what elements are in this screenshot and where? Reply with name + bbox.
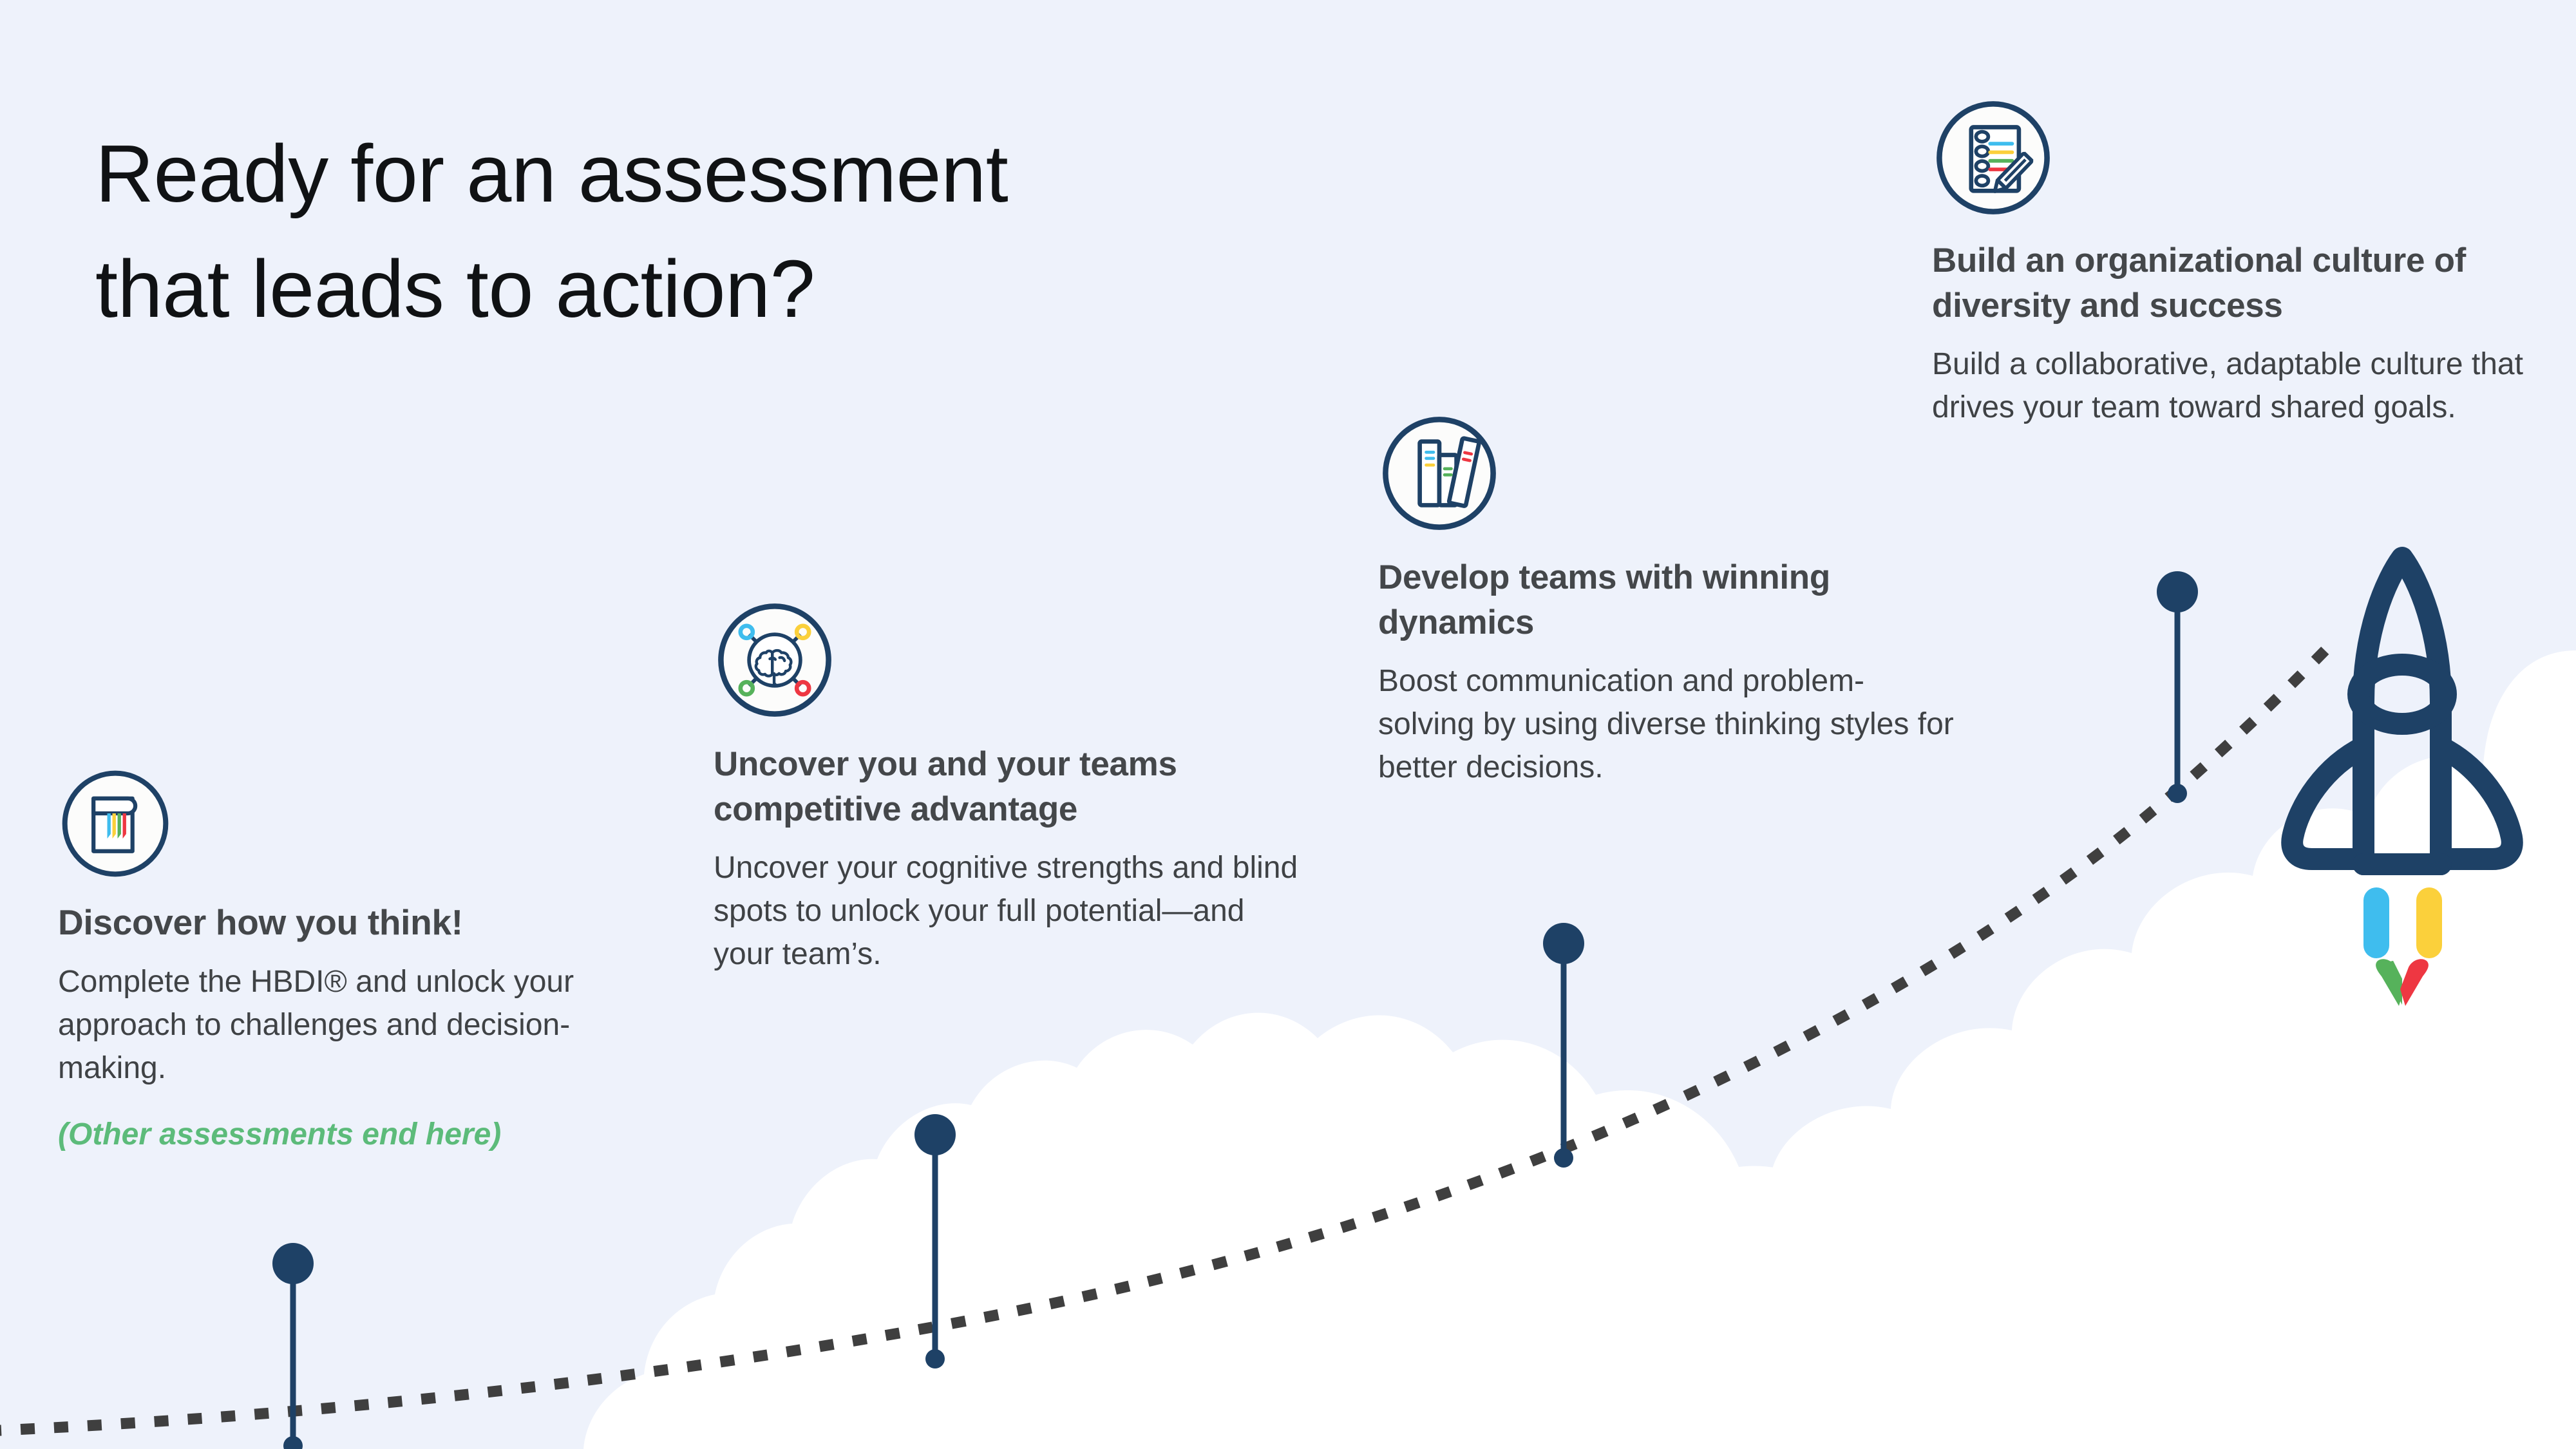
milestone-card-uncover: Uncover you and your teams competitive a… xyxy=(714,599,1312,976)
milestone-description: Complete the HBDI® and unlock your appro… xyxy=(58,960,625,1090)
milestone-pin-3 xyxy=(1543,923,1584,1168)
infographic-canvas: Ready for an assessment that leads to ac… xyxy=(0,0,2576,1449)
milestone-pin-1 xyxy=(272,1243,314,1449)
milestone-title: Develop teams with winning dynamics xyxy=(1378,555,1958,645)
milestone-description: Boost communication and problem-solving … xyxy=(1378,659,1958,790)
milestone-title: Uncover you and your teams competitive a… xyxy=(714,742,1312,832)
notebook-pen-icon xyxy=(1932,97,2054,219)
rocket-icon xyxy=(2267,535,2537,1011)
milestone-pin-2 xyxy=(914,1114,956,1368)
page-title: Ready for an assessment that leads to ac… xyxy=(95,117,1383,347)
milestone-title: Discover how you think! xyxy=(58,899,625,946)
milestone-description: Uncover your cognitive strengths and bli… xyxy=(714,846,1312,976)
milestone-card-discover: Discover how you think! Complete the HBD… xyxy=(58,766,625,1156)
books-icon xyxy=(1378,412,1501,535)
milestone-note: (Other assessments end here) xyxy=(58,1113,625,1156)
brain-network-icon xyxy=(714,599,836,721)
book-icon xyxy=(58,766,173,881)
page-title-line-1: Ready for an assessment xyxy=(95,117,1383,232)
milestone-card-build: Build an organizational culture of diver… xyxy=(1932,97,2563,429)
page-title-line-2: that leads to action? xyxy=(95,232,1383,347)
milestone-pin-4 xyxy=(2157,571,2198,803)
milestone-description: Build a collaborative, adaptable culture… xyxy=(1932,343,2563,429)
milestone-title: Build an organizational culture of diver… xyxy=(1932,238,2563,328)
milestone-card-develop: Develop teams with winning dynamics Boos… xyxy=(1378,412,1958,789)
